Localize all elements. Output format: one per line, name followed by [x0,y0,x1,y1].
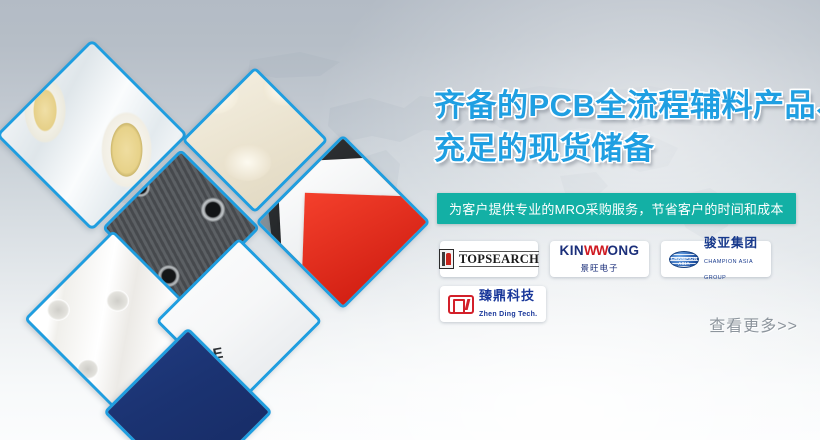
kinwong-word-part1: KIN [560,243,584,258]
partner-logo-row-1: TOPSEARCH KINWWONG 景旺电子 CHAMPION ASIA 骏亚… [440,241,820,277]
promo-banner: JIE 齐备的PCB全流程辅料产品、 充足的现货储备 为客户提供专业的MRO采购… [0,0,820,440]
view-more-link[interactable]: 查看更多>> [709,312,798,336]
kinwong-wordmark: KINWWONG [560,244,640,258]
partner-logo-list: TOPSEARCH KINWWONG 景旺电子 CHAMPION ASIA 骏亚… [440,241,820,322]
kinwong-word-part2: ONG [607,243,639,258]
headline-line-2: 充足的现货储备 [434,127,820,170]
kinwong-accent-glyph: WW [584,243,607,258]
zhending-wordmark: 臻鼎科技 [479,288,535,303]
banner-headline: 齐备的PCB全流程辅料产品、 充足的现货储备 [434,84,820,170]
champion-asia-wordmark-group: 骏亚集团 CHAMPION ASIA GROUP [704,235,763,283]
topsearch-mark-icon [439,249,454,269]
kinwong-subtext: 景旺电子 [580,263,618,273]
champion-asia-subtext: CHAMPION ASIA GROUP [704,259,753,281]
kinwong-wordmark-group: KINWWONG 景旺电子 [558,243,641,275]
banner-subtitle-bar: 为客户提供专业的MRO采购服务，节省客户的时间和成本 [437,193,796,224]
partner-logo-zhen-ding[interactable]: 臻鼎科技 Zhen Ding Tech. [440,286,546,322]
banner-content: 齐备的PCB全流程辅料产品、 充足的现货储备 为客户提供专业的MRO采购服务，节… [432,0,820,440]
zhending-subtext: Zhen Ding Tech. [479,311,537,318]
globe-icon: CHAMPION ASIA [669,251,699,268]
partner-logo-champion-asia[interactable]: CHAMPION ASIA 骏亚集团 CHAMPION ASIA GROUP [661,241,771,277]
zhending-wordmark-group: 臻鼎科技 Zhen Ding Tech. [479,288,538,320]
product-photo-collage: JIE [0,0,430,440]
partner-logo-topsearch[interactable]: TOPSEARCH [440,241,538,277]
champion-asia-wordmark: 骏亚集团 [704,236,758,250]
zhending-mark-icon [448,295,474,314]
banner-subtitle-text: 为客户提供专业的MRO采购服务，节省客户的时间和成本 [449,199,784,218]
headline-line-1: 齐备的PCB全流程辅料产品、 [434,88,820,123]
partner-logo-kinwong[interactable]: KINWWONG 景旺电子 [550,241,649,277]
globe-icon-text: CHAMPION ASIA [669,256,699,266]
topsearch-wordmark: TOPSEARCH [459,251,539,267]
